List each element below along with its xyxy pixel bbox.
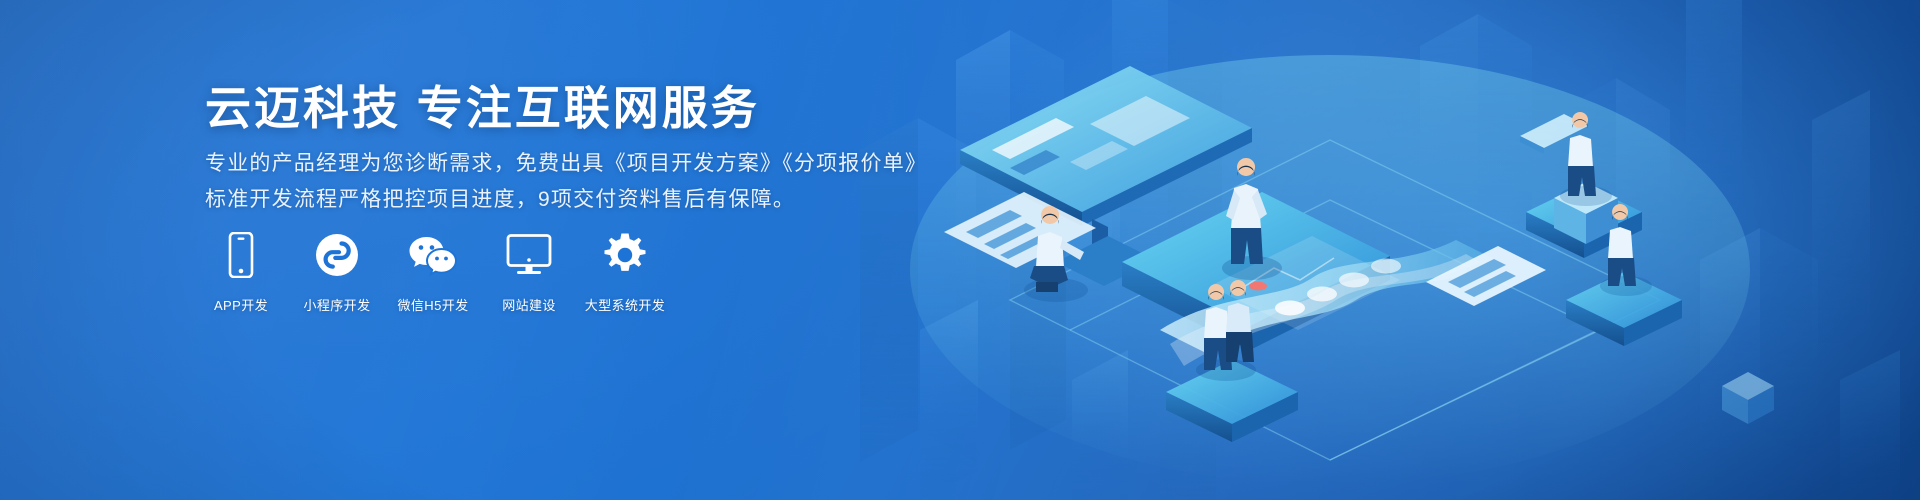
service-item-miniprogram[interactable]: 小程序开发 [301,232,373,314]
wechat-icon [408,232,458,278]
subtitle-line-1: 专业的产品经理为您诊断需求，免费出具《项目开发方案》《分项报价单》 [205,147,927,177]
isometric-illustration [860,0,1920,500]
service-item-system[interactable]: 大型系统开发 [589,232,661,314]
floating-cube [1722,372,1774,424]
service-item-wechat[interactable]: 微信H5开发 [397,232,469,314]
service-label: 网站建设 [502,295,556,314]
service-label: APP开发 [214,295,268,314]
monitor-icon [506,232,552,278]
page-title: 云迈科技 专注互联网服务 [205,72,760,138]
gear-icon [602,232,648,278]
mini-program-icon [315,232,359,278]
service-item-website[interactable]: 网站建设 [493,232,565,314]
subtitle-line-2: 标准开发流程严格把控项目进度，9项交付资料售后有保障。 [205,183,795,213]
hero-banner: 云迈科技 专注互联网服务 专业的产品经理为您诊断需求，免费出具《项目开发方案》《… [0,0,1920,500]
phone-icon [225,232,257,278]
service-list: APP开发 小程序开发 [205,232,661,314]
service-item-app[interactable]: APP开发 [205,232,277,314]
service-label: 大型系统开发 [585,295,665,314]
service-label: 微信H5开发 [397,295,468,314]
service-label: 小程序开发 [303,295,370,314]
